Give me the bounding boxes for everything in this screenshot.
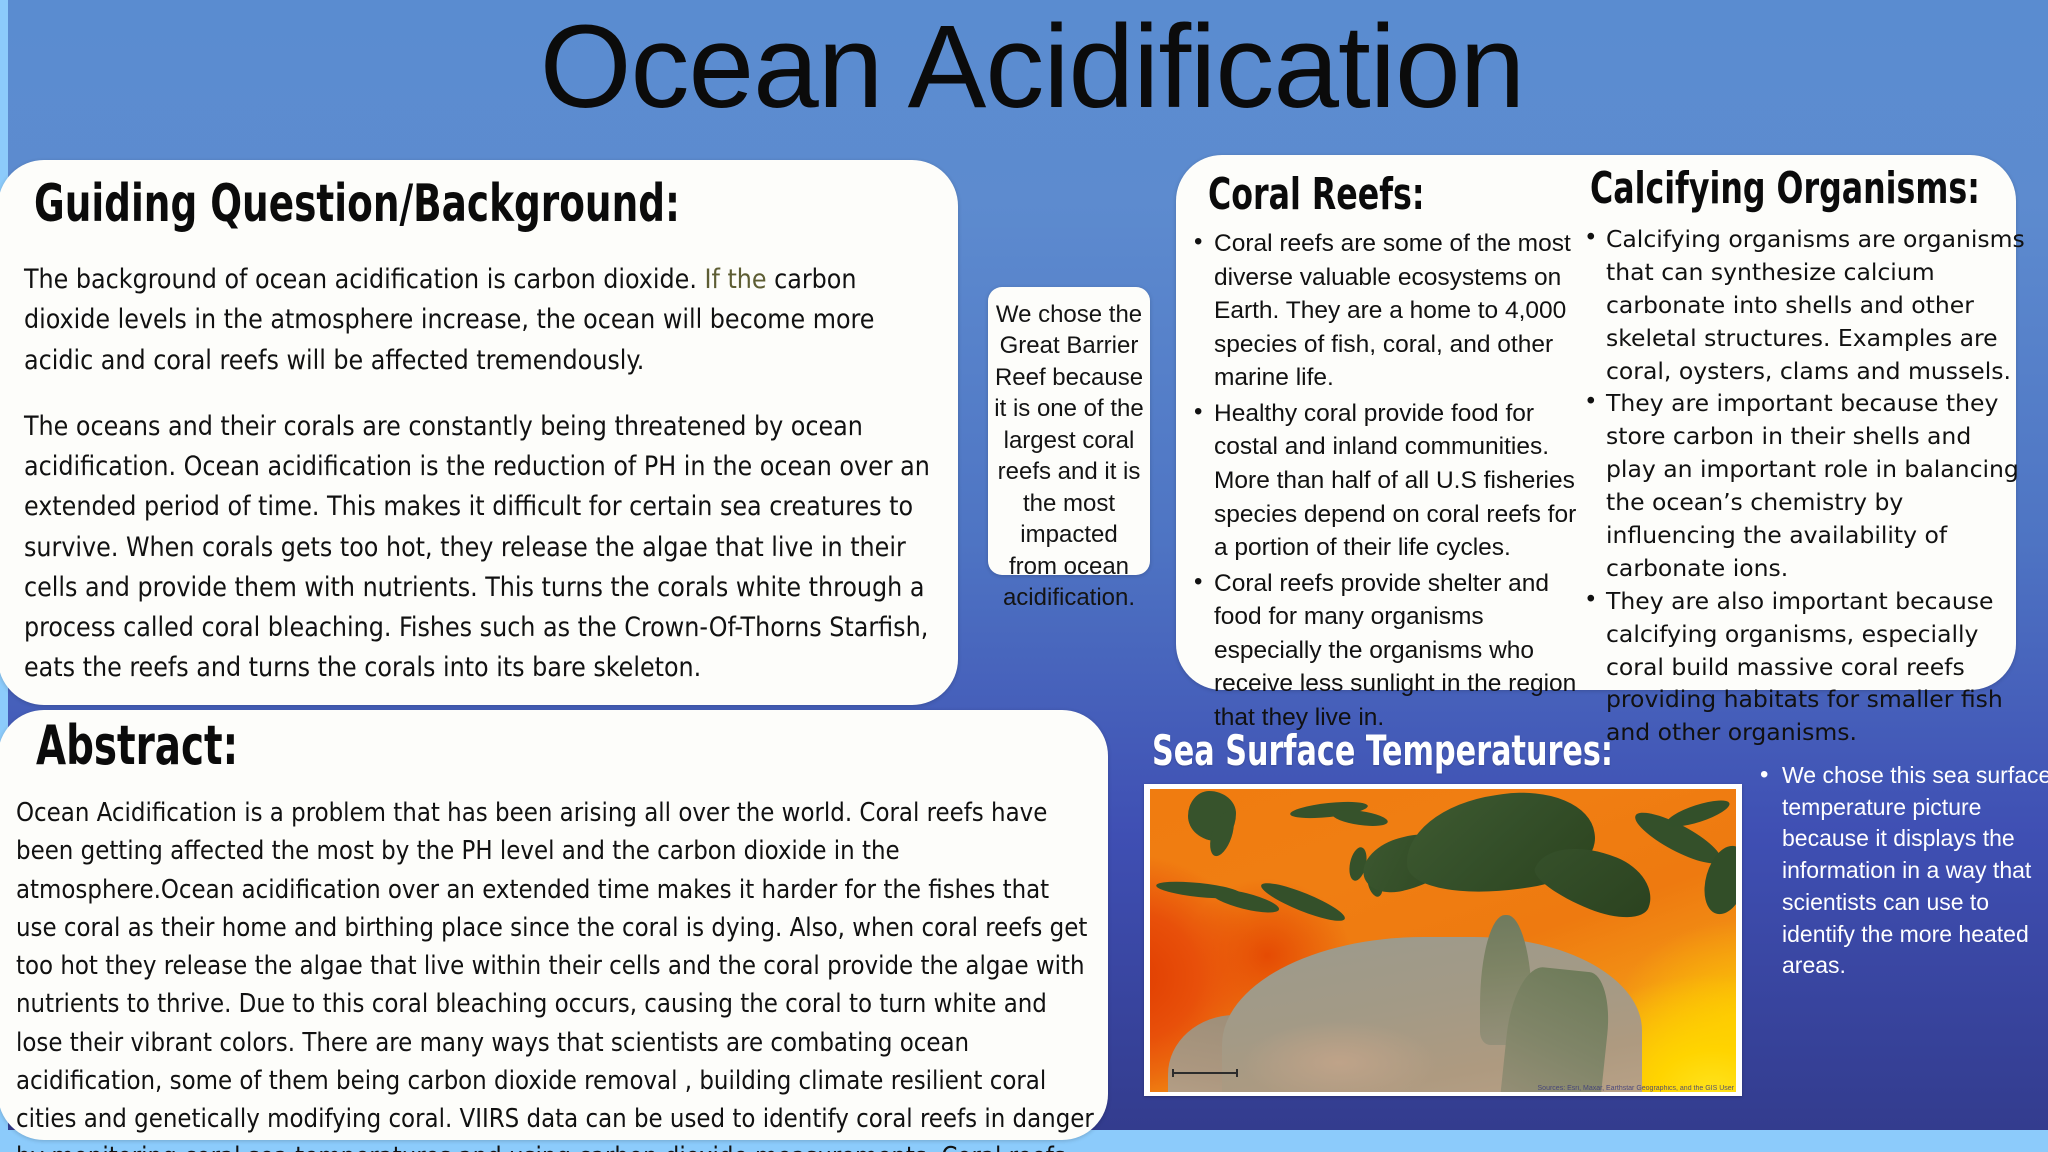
guiding-question-card: Guiding Question/Background: The backgro…	[0, 160, 958, 705]
sea-surface-temperatures-heading: Sea Surface Temperatures:	[1152, 726, 1613, 775]
list-item: Coral reefs are some of the most diverse…	[1188, 227, 1588, 395]
abstract-heading: Abstract:	[36, 714, 238, 777]
list-item: Coral reefs provide shelter and food for…	[1188, 567, 1588, 735]
island-landmass	[1331, 807, 1388, 829]
guiding-paragraph-1: The background of ocean acidification is…	[24, 260, 944, 381]
guiding-p1-part-a: The background of ocean acidification is…	[24, 264, 704, 295]
reefs-and-organisms-card: Coral Reefs: Coral reefs are some of the…	[1176, 155, 2016, 690]
abstract-body: Ocean Acidification is a problem that ha…	[16, 794, 1094, 1152]
page-title: Ocean Acidification	[8, 6, 2048, 130]
calcifying-organisms-list: Calcifying organisms are organisms that …	[1576, 223, 2028, 749]
guiding-paragraph-2: The oceans and their corals are constant…	[24, 407, 944, 689]
map-attribution-text: Sources: Esri, Maxar, Earthstar Geograph…	[1538, 1085, 1734, 1092]
guiding-question-body: The background of ocean acidification is…	[24, 260, 944, 715]
coral-reefs-list: Coral reefs are some of the most diverse…	[1188, 227, 1588, 736]
sea-surface-temperature-note-list: We chose this sea surface temperature pi…	[1756, 760, 2048, 982]
list-item: Calcifying organisms are organisms that …	[1576, 223, 2028, 387]
guiding-question-heading: Guiding Question/Background:	[34, 174, 680, 234]
sea-surface-temperature-map-image: Sources: Esri, Maxar, Earthstar Geograph…	[1150, 789, 1736, 1092]
coral-reefs-heading: Coral Reefs:	[1208, 169, 1425, 220]
list-item: They are also important because calcifyi…	[1576, 585, 2028, 749]
list-item: We chose this sea surface temperature pi…	[1756, 760, 2048, 982]
list-item: They are important because they store ca…	[1576, 387, 2028, 584]
list-item: Healthy coral provide food for costal an…	[1188, 397, 1588, 565]
island-landmass	[1664, 795, 1732, 832]
callout-text: We chose the Great Barrier Reef because …	[988, 287, 1150, 613]
guiding-p1-highlight: If the	[704, 264, 766, 295]
poster-background: Ocean Acidification Guiding Question/Bac…	[8, 0, 2048, 1130]
abstract-card: Abstract: Ocean Acidification is a probl…	[0, 710, 1108, 1140]
map-scale-bar	[1172, 1072, 1238, 1074]
great-barrier-reef-callout-card: We chose the Great Barrier Reef because …	[988, 287, 1150, 575]
sea-surface-temperature-figure: Sources: Esri, Maxar, Earthstar Geograph…	[1144, 784, 1742, 1096]
calcifying-organisms-heading: Calcifying Organisms:	[1590, 163, 1980, 214]
